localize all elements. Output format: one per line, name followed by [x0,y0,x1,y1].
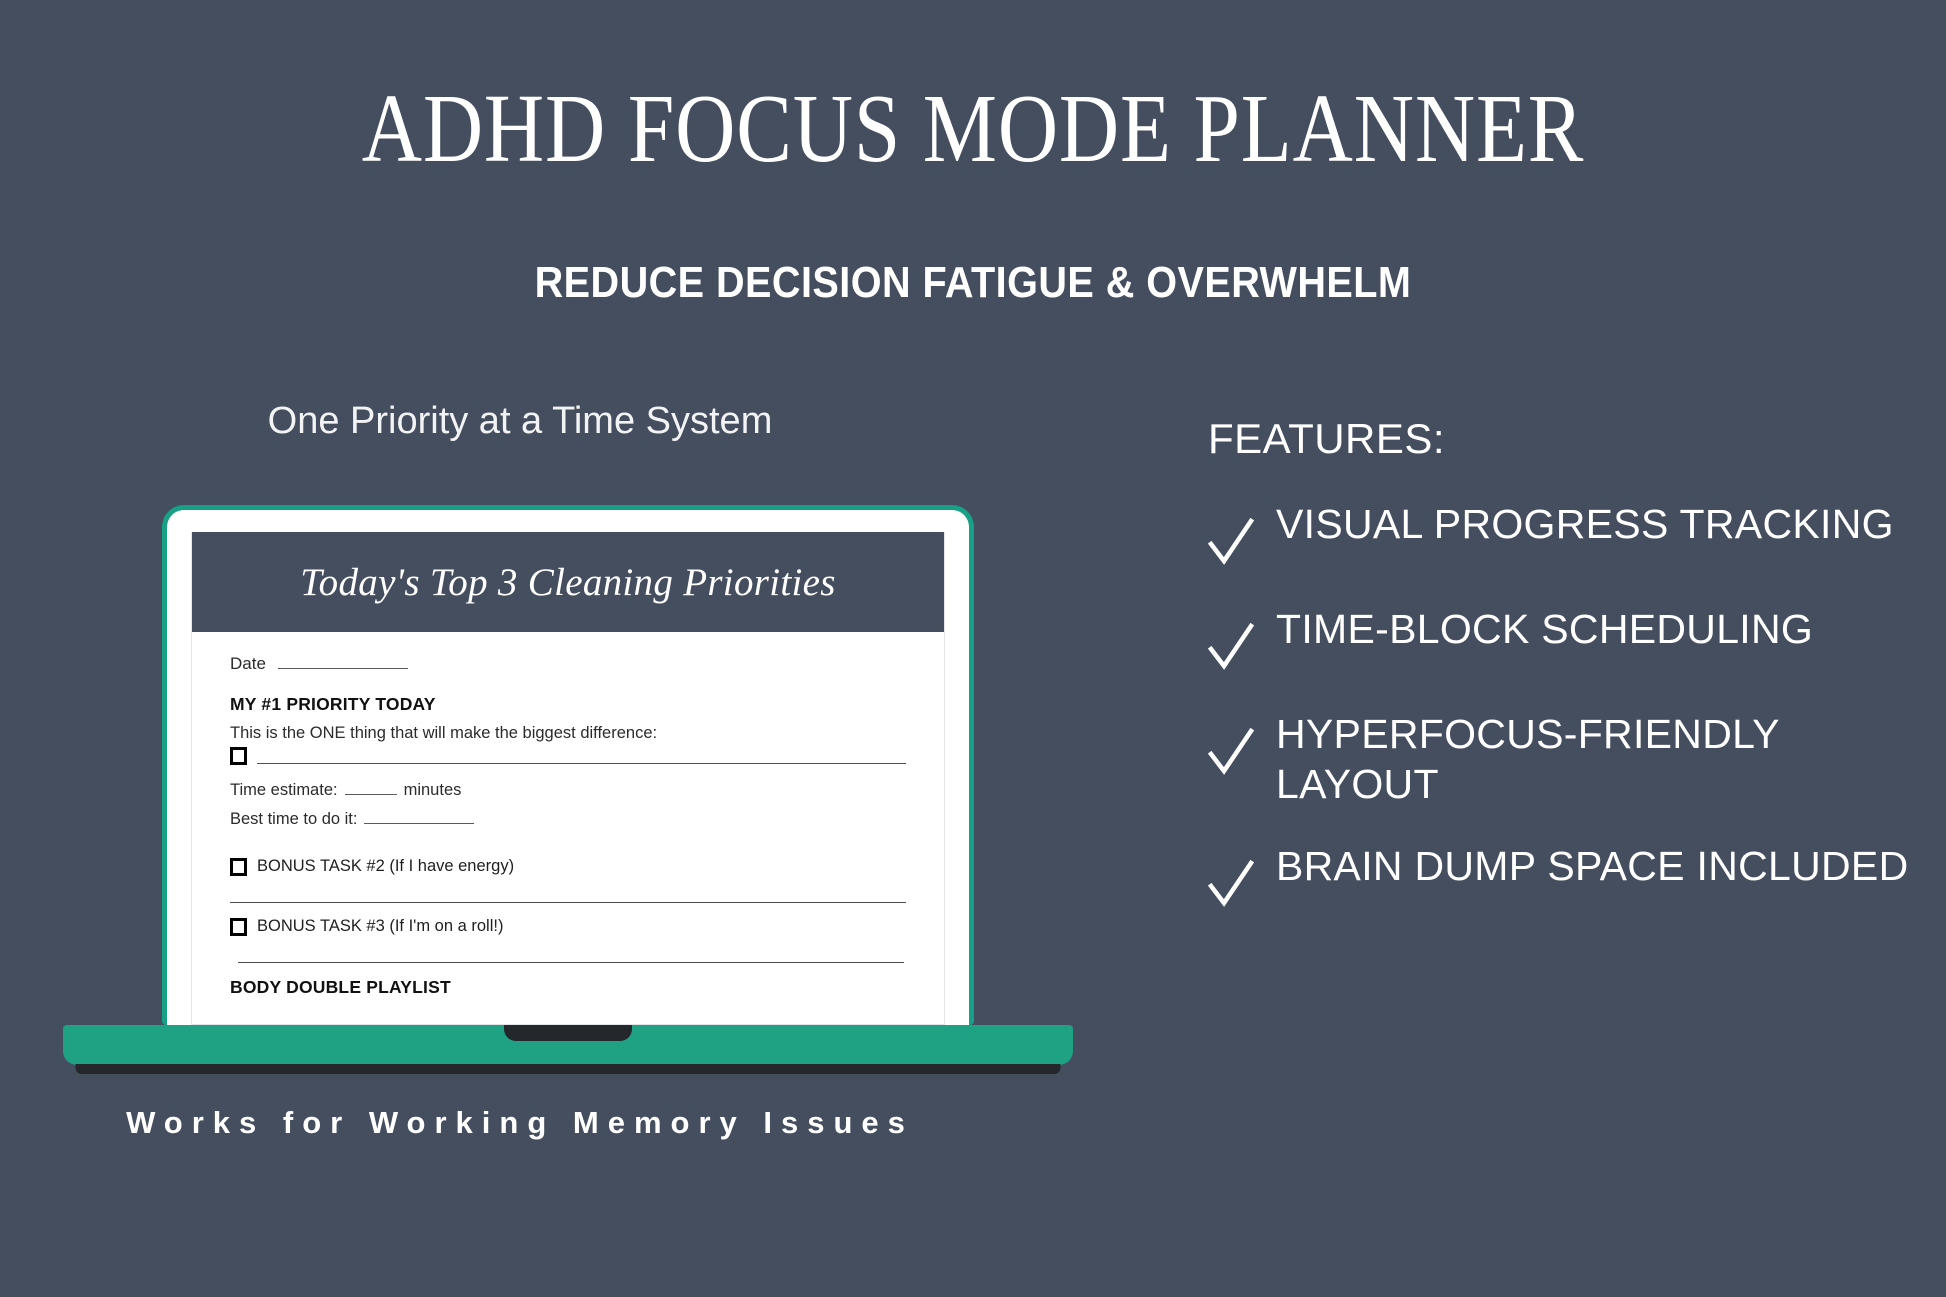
priority-write-line[interactable] [257,749,906,764]
page-subtitle: REDUCE DECISION FATIGUE & OVERWHELM [97,258,1848,308]
check-icon [1208,727,1254,782]
bonus-task-3-label: BONUS TASK #3 (If I'm on a roll!) [257,917,503,936]
checkbox-icon[interactable] [230,747,247,765]
date-row: Date [230,654,906,674]
check-icon [1208,622,1254,677]
planner-form-body: Date MY #1 PRIORITY TODAY This is the ON… [192,632,944,998]
bonus-task-2-write-line[interactable] [230,902,906,903]
feature-item: VISUAL PROGRESS TRACKING [1208,499,1928,572]
planner-form-header: Today's Top 3 Cleaning Priorities [192,532,944,632]
time-estimate-write-line[interactable] [345,794,397,795]
priority-prompt: This is the ONE thing that will make the… [230,724,906,743]
laptop-notch [504,1025,632,1041]
best-time-row: Best time to do it: [230,810,906,829]
features-panel: FEATURES: VISUAL PROGRESS TRACKING TIME-… [1208,415,1928,946]
feature-item: HYPERFOCUS-FRIENDLY LAYOUT [1208,709,1928,809]
feature-label: TIME-BLOCK SCHEDULING [1276,604,1813,654]
feature-item: BRAIN DUMP SPACE INCLUDED [1208,841,1928,914]
time-estimate-label: Time estimate: [230,781,338,800]
page-title: ADHD FOCUS MODE PLANNER [136,78,1810,180]
feature-item: TIME-BLOCK SCHEDULING [1208,604,1928,677]
poster-canvas: ADHD FOCUS MODE PLANNER REDUCE DECISION … [0,0,1946,1297]
laptop-base-shadow [76,1064,1061,1074]
feature-label: BRAIN DUMP SPACE INCLUDED [1276,841,1909,891]
bonus-task-2-label: BONUS TASK #2 (If I have energy) [257,857,514,876]
laptop-mockup: Today's Top 3 Cleaning Priorities Date M… [162,505,974,1065]
check-icon [1208,859,1254,914]
time-estimate-row: Time estimate: minutes [230,781,906,800]
priority-check-row [230,747,906,765]
checkbox-icon[interactable] [230,918,247,936]
feature-label: HYPERFOCUS-FRIENDLY LAYOUT [1276,709,1928,809]
spacer [230,839,906,857]
left-caption: One Priority at a Time System [0,400,1040,443]
bonus-task-3-write-line[interactable] [238,962,904,963]
checkbox-icon[interactable] [230,858,247,876]
date-write-line[interactable] [278,667,408,669]
bonus-task-3-row: BONUS TASK #3 (If I'm on a roll!) [230,917,906,936]
bottom-caption: Works for Working Memory Issues [0,1105,1040,1141]
time-estimate-unit: minutes [404,781,462,800]
best-time-label: Best time to do it: [230,810,357,829]
laptop-screen: Today's Top 3 Cleaning Priorities Date M… [162,505,974,1025]
laptop-base [63,1025,1073,1065]
best-time-write-line[interactable] [364,823,474,824]
priority-heading: MY #1 PRIORITY TODAY [230,694,906,715]
planner-form-title: Today's Top 3 Cleaning Priorities [300,560,835,605]
check-icon [1208,517,1254,572]
bonus-task-2-row: BONUS TASK #2 (If I have energy) [230,857,906,876]
playlist-heading: BODY DOUBLE PLAYLIST [230,977,906,998]
feature-label: VISUAL PROGRESS TRACKING [1276,499,1894,549]
features-heading: FEATURES: [1208,415,1928,463]
planner-form-card: Today's Top 3 Cleaning Priorities Date M… [191,532,945,1025]
date-label: Date [230,654,266,674]
